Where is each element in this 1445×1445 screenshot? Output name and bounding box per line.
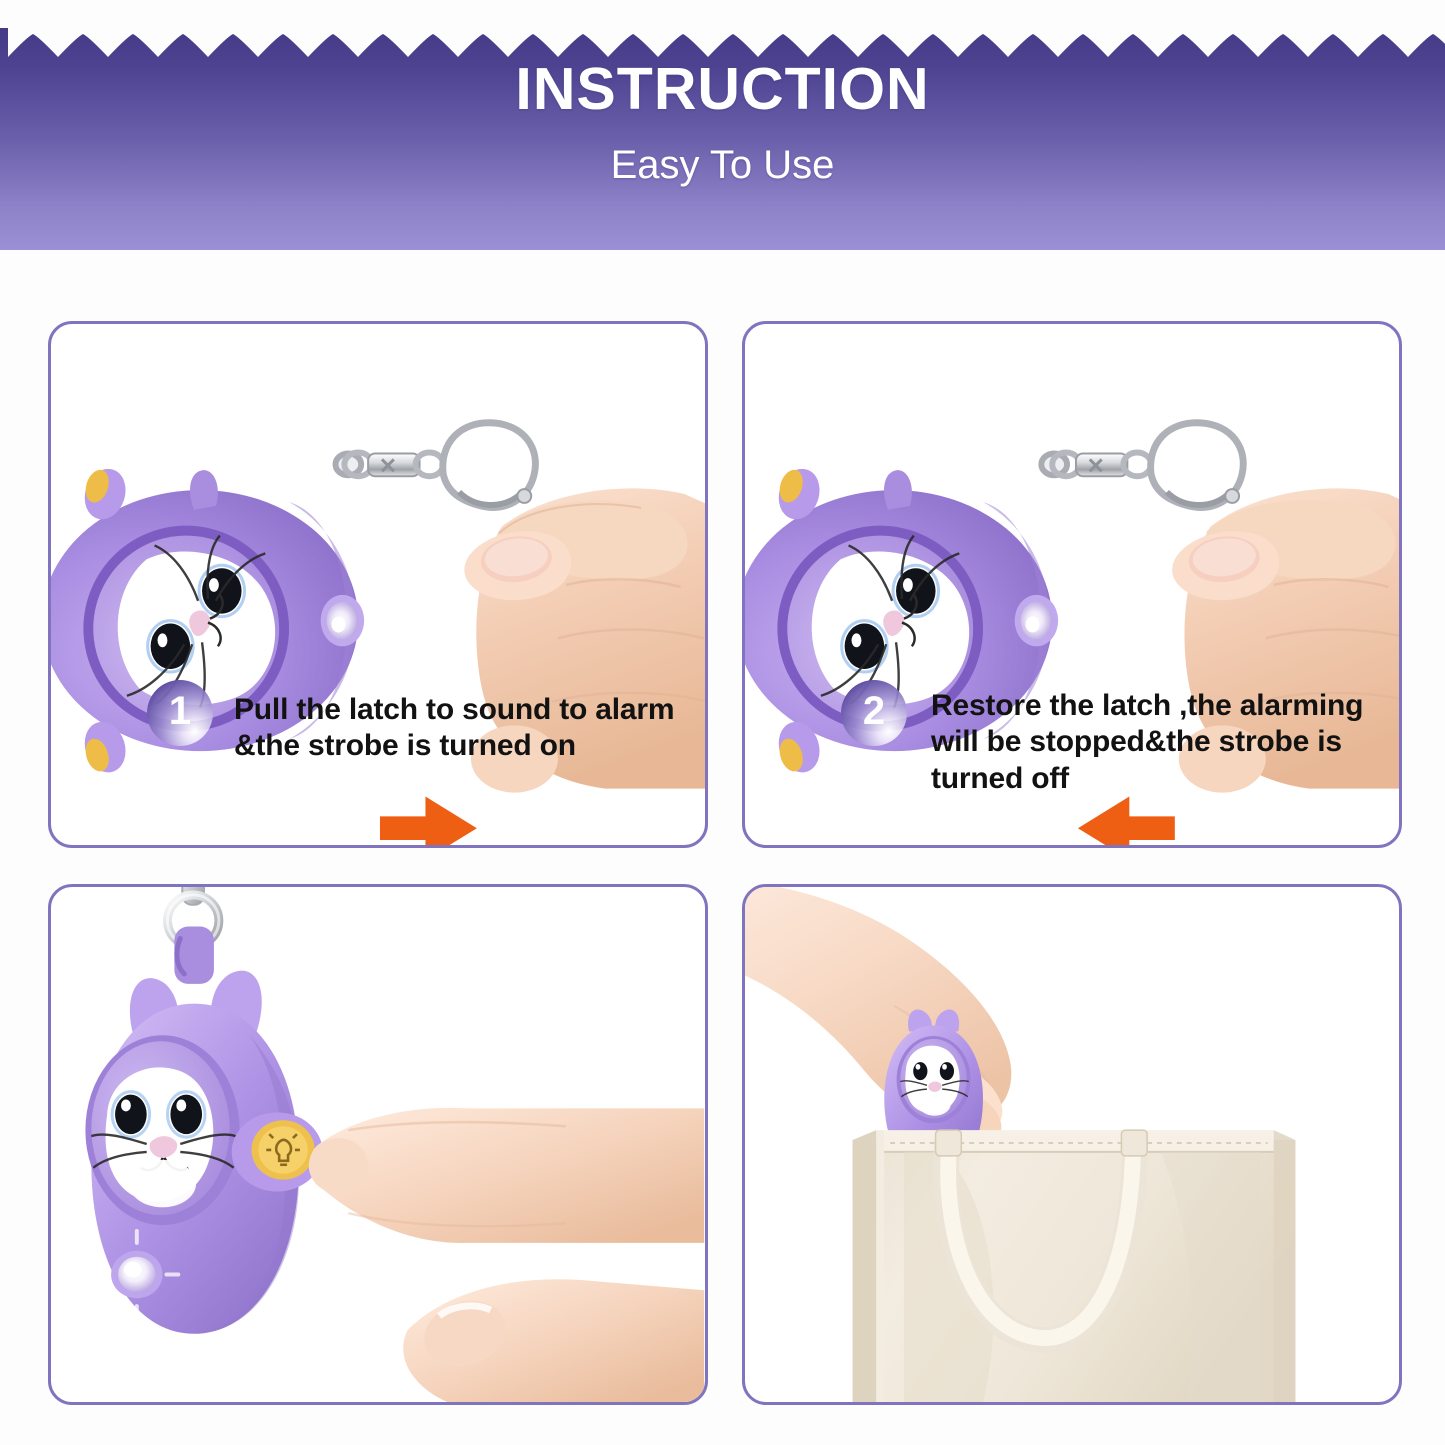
step-number-1: 1 (169, 691, 191, 731)
pressing-finger (309, 1108, 704, 1243)
instruction-infographic: INSTRUCTION Easy To Use (0, 0, 1445, 1445)
step-number-badge-1: 1 (147, 680, 213, 746)
keychain-clasp (311, 423, 536, 508)
step-card-1: 1 Pull the latch to sound to alarm &the … (48, 321, 708, 848)
step-card-4: 4 Easy to carry ,Protable (742, 884, 1402, 1405)
step-number-2: 2 (863, 691, 885, 731)
step-description-1: Pull the latch to sound to alarm &the st… (234, 692, 708, 765)
step-card-3: 3 Press the key,the light will be Bright (48, 884, 708, 1405)
header-banner: INSTRUCTION Easy To Use (0, 0, 1445, 250)
step-1-illustration (51, 324, 705, 845)
light-button (232, 1112, 323, 1191)
step-number-badge-2: 2 (841, 680, 907, 746)
direction-arrow-right (380, 797, 477, 845)
page-subtitle: Easy To Use (611, 143, 835, 188)
step-4-illustration (745, 887, 1399, 1402)
led-light (1015, 595, 1058, 646)
step-3-illustration (51, 887, 705, 1402)
step-card-2: 2 Restore the latch ,the alarming will b… (742, 321, 1402, 848)
tote-bag (853, 1130, 1296, 1402)
cat-alarm-device (85, 971, 322, 1334)
led-light (321, 595, 364, 646)
supporting-hand (403, 1279, 704, 1402)
direction-arrow-left (1078, 797, 1175, 845)
page-title: INSTRUCTION (515, 60, 929, 119)
step-description-2: Restore the latch ,the alarming will be … (931, 688, 1402, 797)
keychain-clasp (1041, 423, 1243, 508)
